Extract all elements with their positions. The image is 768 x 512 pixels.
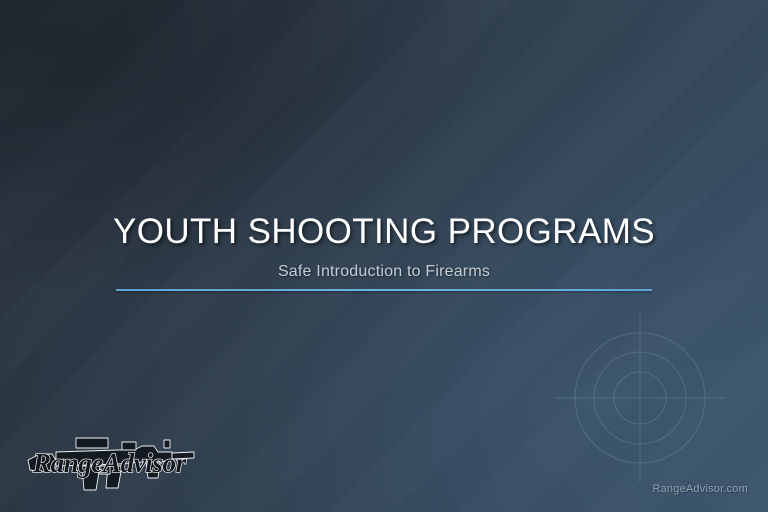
accent-divider [116, 289, 652, 291]
rangeadvisor-logo: RangeAdvisor [22, 416, 200, 498]
footer-website: RangeAdvisor.com [652, 483, 748, 495]
title-block: YOUTH SHOOTING PROGRAMS Safe Introductio… [0, 212, 768, 281]
title-slide: YOUTH SHOOTING PROGRAMS Safe Introductio… [0, 0, 768, 512]
svg-text:RangeAdvisor: RangeAdvisor [32, 448, 187, 478]
page-subtitle: Safe Introduction to Firearms [0, 263, 768, 281]
page-title: YOUTH SHOOTING PROGRAMS [0, 212, 768, 251]
